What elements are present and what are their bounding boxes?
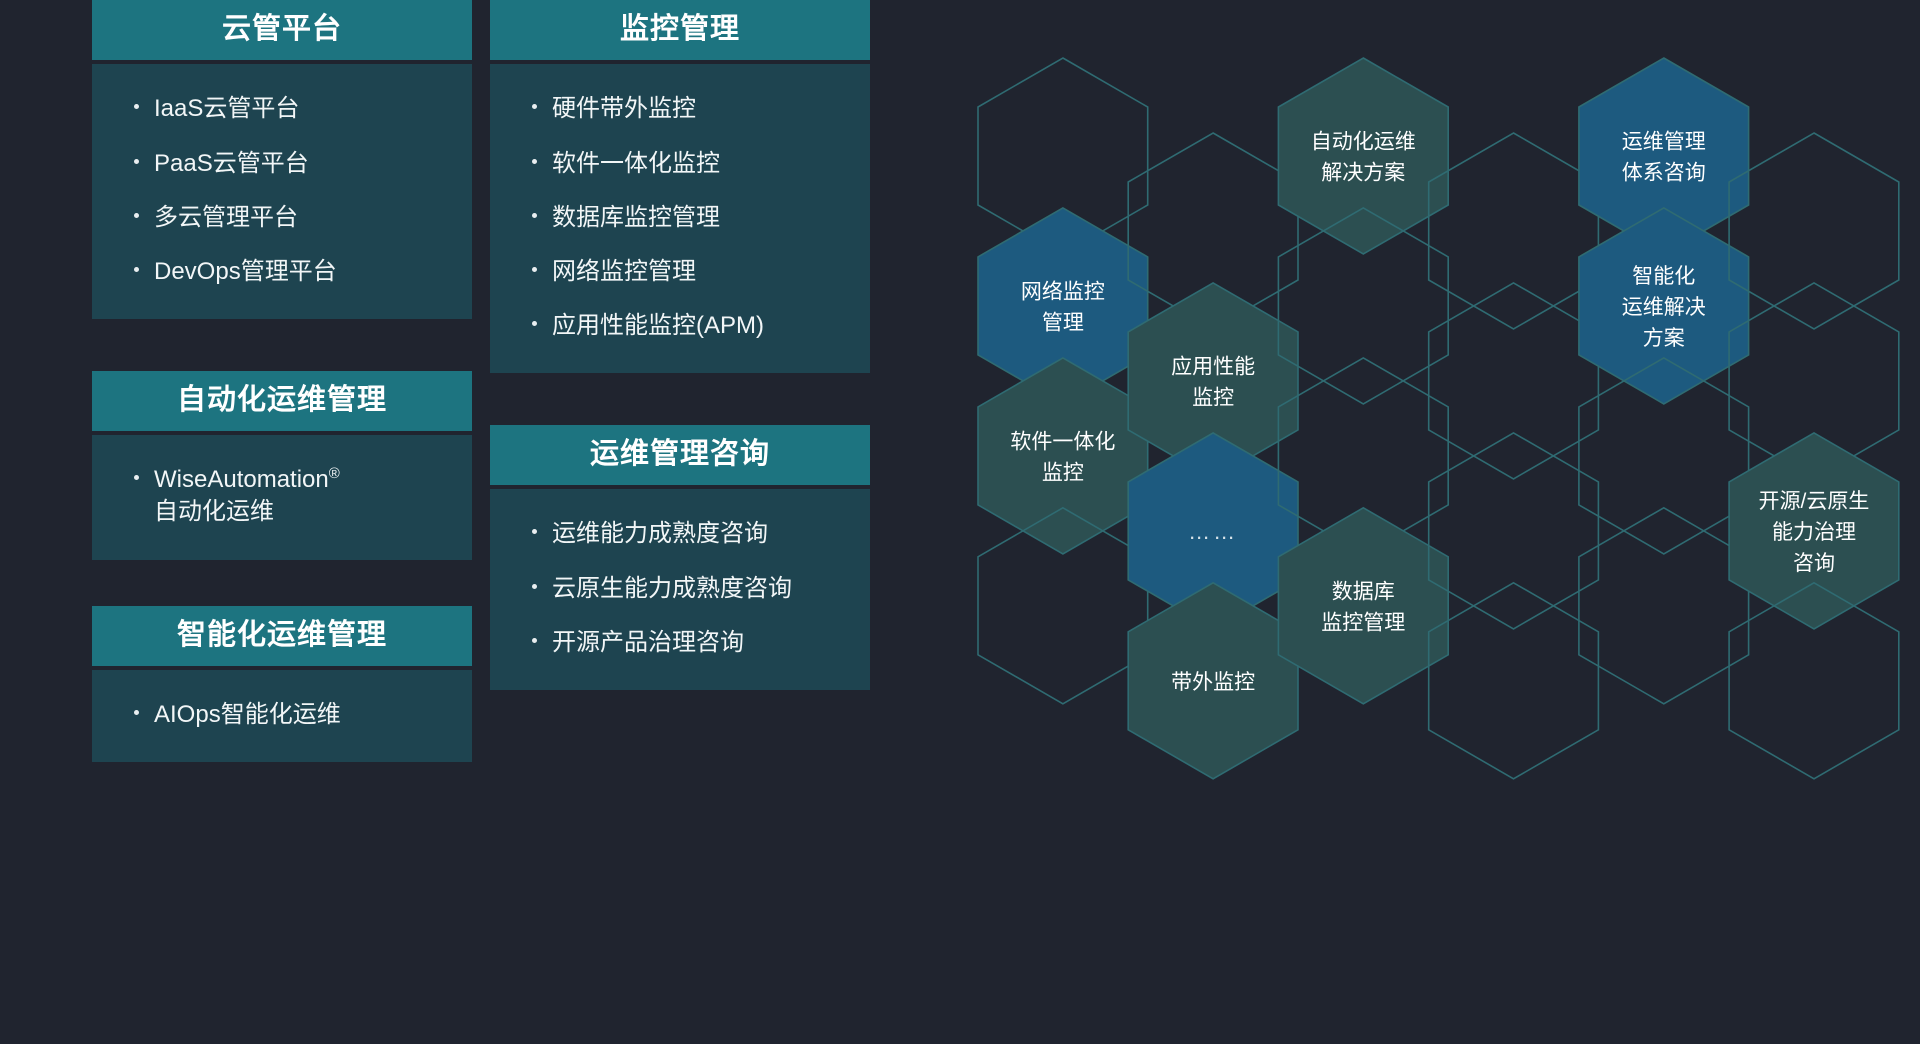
hex-auto-ops-label: 解决方案 xyxy=(1321,162,1405,185)
card-body-automation-ops: WiseAutomation® 自动化运维 xyxy=(92,435,472,559)
hex-app-perf-label: 应用性能 xyxy=(1171,355,1255,378)
hexagon-svg: 网络监控管理软件一体化监控应用性能监控……带外监控自动化运维解决方案数据库监控管… xyxy=(930,0,1920,1044)
hexagon-diagram: 网络监控管理软件一体化监控应用性能监控……带外监控自动化运维解决方案数据库监控管… xyxy=(930,0,1920,1044)
card-monitoring[interactable]: 监控管理 硬件带外监控 软件一体化监控 数据库监控管理 网络监控管理 应用性能监… xyxy=(490,0,870,373)
hex-empty xyxy=(1429,433,1599,629)
hex-aiops-label: 智能化 xyxy=(1632,265,1695,288)
list-item: 应用性能监控(APM) xyxy=(490,299,870,353)
hex-opensource-label: 咨询 xyxy=(1793,552,1835,575)
hex-auto-ops-label: 自动化运维 xyxy=(1311,131,1416,154)
list-item: 开源产品治理咨询 xyxy=(490,616,870,670)
card-ops-consulting[interactable]: 运维管理咨询 运维能力成熟度咨询 云原生能力成熟度咨询 开源产品治理咨询 xyxy=(490,425,870,690)
hex-ellipsis-label: …… xyxy=(1188,519,1238,544)
hex-app-perf-label: 监控 xyxy=(1192,386,1234,409)
hex-software-int-label: 软件一体化 xyxy=(1010,430,1115,453)
hex-empty xyxy=(1429,583,1599,779)
list-item: DevOps管理平台 xyxy=(92,245,472,299)
list-item-text: WiseAutomation xyxy=(154,466,329,493)
spacer xyxy=(490,373,870,425)
hex-db-monitor-label: 监控管理 xyxy=(1321,611,1405,634)
spacer xyxy=(92,319,472,371)
card-automation-ops[interactable]: 自动化运维管理 WiseAutomation® 自动化运维 xyxy=(92,371,472,560)
list-item: 运维能力成熟度咨询 xyxy=(490,507,870,561)
column-left: 云管平台 IaaS云管平台 PaaS云管平台 多云管理平台 DevOps管理平台… xyxy=(92,0,472,762)
hex-aiops-label: 方案 xyxy=(1643,327,1685,350)
card-title-monitoring: 监控管理 xyxy=(490,0,870,60)
list-item: 多云管理平台 xyxy=(92,191,472,245)
list-item: PaaS云管平台 xyxy=(92,137,472,191)
hex-db-monitor-label: 数据库 xyxy=(1332,580,1395,603)
list-item: 云原生能力成熟度咨询 xyxy=(490,562,870,616)
hex-net-monitor-label: 管理 xyxy=(1042,311,1084,334)
card-cloud-platform[interactable]: 云管平台 IaaS云管平台 PaaS云管平台 多云管理平台 DevOps管理平台 xyxy=(92,0,472,319)
hex-net-monitor-label: 网络监控 xyxy=(1021,280,1105,303)
hex-software-int-label: 监控 xyxy=(1042,461,1084,484)
hex-empty xyxy=(1579,508,1749,704)
list-item: 数据库监控管理 xyxy=(490,191,870,245)
card-title-ops-consulting: 运维管理咨询 xyxy=(490,425,870,485)
slide-canvas: 云管平台 IaaS云管平台 PaaS云管平台 多云管理平台 DevOps管理平台… xyxy=(0,0,1920,1044)
card-body-intelligent-ops: AIOps智能化运维 xyxy=(92,670,472,762)
card-panel: 云管平台 IaaS云管平台 PaaS云管平台 多云管理平台 DevOps管理平台… xyxy=(0,0,880,1044)
list-item: 软件一体化监控 xyxy=(490,137,870,191)
hex-opensource-label: 能力治理 xyxy=(1772,521,1856,544)
list-item: AIOps智能化运维 xyxy=(92,688,472,742)
hex-empty xyxy=(1429,133,1599,329)
card-body-ops-consulting: 运维能力成熟度咨询 云原生能力成熟度咨询 开源产品治理咨询 xyxy=(490,489,870,689)
hex-aiops-label: 运维解决 xyxy=(1622,296,1706,319)
registered-mark: ® xyxy=(329,465,340,482)
hex-ops-consult-label: 运维管理 xyxy=(1622,131,1706,154)
hex-empty xyxy=(1429,283,1599,479)
spacer xyxy=(92,560,472,606)
list-item: 硬件带外监控 xyxy=(490,82,870,136)
hex-empty xyxy=(1729,133,1899,329)
list-item: 网络监控管理 xyxy=(490,245,870,299)
card-title-automation-ops: 自动化运维管理 xyxy=(92,371,472,431)
list-item: IaaS云管平台 xyxy=(92,82,472,136)
column-right: 监控管理 硬件带外监控 软件一体化监控 数据库监控管理 网络监控管理 应用性能监… xyxy=(490,0,870,690)
hex-software-int[interactable] xyxy=(978,358,1148,554)
list-item: WiseAutomation® 自动化运维 xyxy=(92,453,472,539)
hex-auto-ops[interactable] xyxy=(1278,58,1448,254)
hex-oob-monitor-label: 带外监控 xyxy=(1171,671,1255,694)
hex-opensource-label: 开源/云原生 xyxy=(1759,490,1870,513)
hex-db-monitor[interactable] xyxy=(1278,508,1448,704)
card-body-monitoring: 硬件带外监控 软件一体化监控 数据库监控管理 网络监控管理 应用性能监控(APM… xyxy=(490,64,870,373)
card-intelligent-ops[interactable]: 智能化运维管理 AIOps智能化运维 xyxy=(92,606,472,763)
card-title-cloud-platform: 云管平台 xyxy=(92,0,472,60)
list-item-text-line2: 自动化运维 xyxy=(154,498,274,525)
card-body-cloud-platform: IaaS云管平台 PaaS云管平台 多云管理平台 DevOps管理平台 xyxy=(92,64,472,319)
hex-ops-consult-label: 体系咨询 xyxy=(1622,162,1706,185)
card-title-intelligent-ops: 智能化运维管理 xyxy=(92,606,472,666)
